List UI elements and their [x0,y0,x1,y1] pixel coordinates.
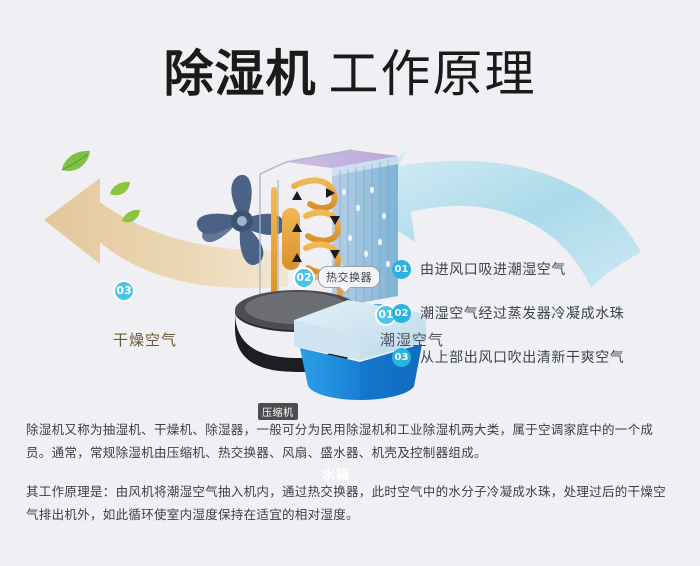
legend-list: 01 由进风口吸进潮湿空气 02 潮湿空气经过蒸发器冷凝成水珠 03 从上部出风… [392,256,672,388]
diagram-badge-02: 02 [293,267,315,289]
paragraph-2: 其工作原理是：由风机将潮湿空气抽入机内，通过热交换器，此时空气中的水分子冷凝成水… [26,480,678,526]
legend-badge-01: 01 [392,260,411,279]
body-copy: 除湿机又称为抽湿机、干燥机、除湿器，一般可分为民用除湿机和工业除湿机两大类，属于… [26,418,678,542]
page-title-bold: 除湿机 [164,45,317,103]
legend-text-01: 由进风口吸进潮湿空气 [420,259,566,279]
legend-text-02: 潮湿空气经过蒸发器冷凝成水珠 [420,303,624,323]
legend-text-03: 从上部出风口吹出清新干爽空气 [420,347,624,367]
legend-item: 01 由进风口吸进潮湿空气 [392,256,672,282]
paragraph-1: 除湿机又称为抽湿机、干燥机、除湿器，一般可分为民用除湿机和工业除湿机两大类，属于… [26,418,678,464]
dry-air-label: 干燥空气 [113,329,177,350]
leaf-icon [108,180,134,202]
legend-item: 02 潮湿空气经过蒸发器冷凝成水珠 [392,300,672,326]
page-title: 除湿机工作原理 [0,34,700,106]
heat-exchanger-callout: 热交换器 [318,266,380,288]
legend-item: 03 从上部出风口吹出清新干爽空气 [392,344,672,370]
infographic-page: 除湿机工作原理 [0,0,700,566]
leaf-icon [120,208,144,228]
diagram-badge-03: 03 [113,280,135,302]
leaf-icon [58,148,98,182]
page-title-light: 工作原理 [329,45,537,103]
legend-badge-03: 03 [392,348,411,367]
legend-badge-02: 02 [392,304,411,323]
